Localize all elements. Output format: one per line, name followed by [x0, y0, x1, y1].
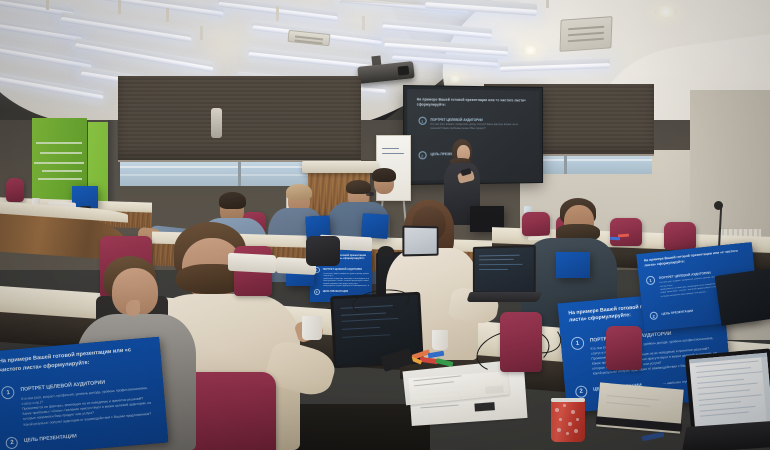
- window-blind[interactable]: [118, 76, 361, 162]
- cup-white: [302, 316, 322, 340]
- laptop-document-screen: [689, 353, 770, 430]
- slide-bullet-heading: ЦЕЛЬ ПРЕЗЕНТАЦИИ: [661, 309, 693, 316]
- light-drop: [166, 8, 169, 22]
- student-ear: [126, 300, 140, 316]
- cup-red: [551, 398, 585, 442]
- student-hair: [372, 168, 396, 182]
- chair[interactable]: [606, 326, 642, 370]
- monitor-screen: На примере Вашей готовой презентации или…: [0, 337, 168, 450]
- laptop-lid-document[interactable]: [685, 348, 770, 433]
- student-hair: [219, 192, 246, 209]
- chair[interactable]: [6, 178, 24, 202]
- slide-bullet-heading: ЦЕЛЬ ПРЕЗЕНТАЦИИ: [24, 433, 77, 444]
- light-drop: [546, 0, 549, 8]
- chair[interactable]: [500, 312, 542, 372]
- cup-white: [432, 330, 448, 350]
- slide-bullet-lines: Кто они (пол, возраст, профессия, уровен…: [21, 385, 157, 427]
- slide-bullet-heading: ПОРТРЕТ ЦЕЛЕВОЙ АУДИТОРИИ: [430, 118, 482, 122]
- light-drop: [118, 0, 121, 14]
- slide-bullet-heading: ЦЕЛЬ ПРЕЗЕНТАЦИИ: [323, 290, 348, 293]
- monitor[interactable]: [715, 268, 770, 326]
- slide-bullet-number: 2: [314, 289, 320, 295]
- slide-bullet-lines: Кто они (пол, возраст, профессия, уровен…: [323, 273, 369, 288]
- monitor-foreground[interactable]: На примере Вашей готовой презентации или…: [0, 337, 168, 450]
- lectern-top: [302, 161, 378, 173]
- projector-lens: [397, 66, 409, 76]
- light-drop: [362, 16, 365, 30]
- slide-bullet-heading: ПОРТРЕТ ЦЕЛЕВОЙ АУДИТОРИИ: [323, 268, 362, 271]
- pen[interactable]: [642, 432, 665, 441]
- chair[interactable]: [664, 222, 696, 250]
- hvac-vent-icon: [560, 16, 613, 52]
- microphone-icon: [714, 201, 723, 210]
- slide-bullet-number: 2: [6, 436, 19, 449]
- marker-pen[interactable]: [610, 237, 620, 241]
- bag: [306, 236, 340, 266]
- slide-bullet-number: 2: [418, 151, 426, 159]
- slide-bullet-body: Кто они (пол, возраст, профессия, доход,…: [430, 123, 529, 131]
- slide-title: На примере Вашей готовой презентации или…: [0, 345, 151, 374]
- slide-bullet-number: 2: [649, 312, 658, 321]
- slide-bullet-number: 1: [571, 336, 585, 350]
- light-drop: [276, 6, 279, 21]
- slide-bullet-number: 1: [1, 386, 15, 400]
- laptop-lid[interactable]: [473, 245, 536, 295]
- classroom-photo-scene: На примере Вашей готовой презентации или…: [0, 0, 770, 450]
- slide-bullet-number: 2: [575, 385, 588, 398]
- laptop-lid[interactable]: [402, 226, 438, 257]
- slide-bullet-number: 1: [418, 117, 426, 125]
- slide-title: На примере Вашей готовой презентации или…: [644, 248, 747, 268]
- light-drop: [46, 0, 49, 10]
- ceiling-downlight: [448, 76, 462, 83]
- mouse[interactable]: [378, 246, 394, 257]
- desk-device: [228, 253, 276, 274]
- laptop-base[interactable]: [466, 292, 542, 302]
- chair[interactable]: [610, 218, 642, 246]
- projected-slide-title: На примере Вашей готовой презентации или…: [417, 97, 527, 108]
- chair[interactable]: [522, 212, 550, 236]
- monitor[interactable]: [556, 252, 590, 278]
- ceiling-downlight: [654, 6, 678, 17]
- ceiling-downlight: [522, 46, 539, 55]
- slide-bullet-number: 1: [646, 276, 656, 286]
- glasses-icon: [366, 192, 374, 196]
- wall-speaker-icon: [211, 108, 222, 138]
- light-drop: [200, 26, 203, 40]
- student-hair: [286, 184, 312, 200]
- monitor[interactable]: [361, 213, 389, 239]
